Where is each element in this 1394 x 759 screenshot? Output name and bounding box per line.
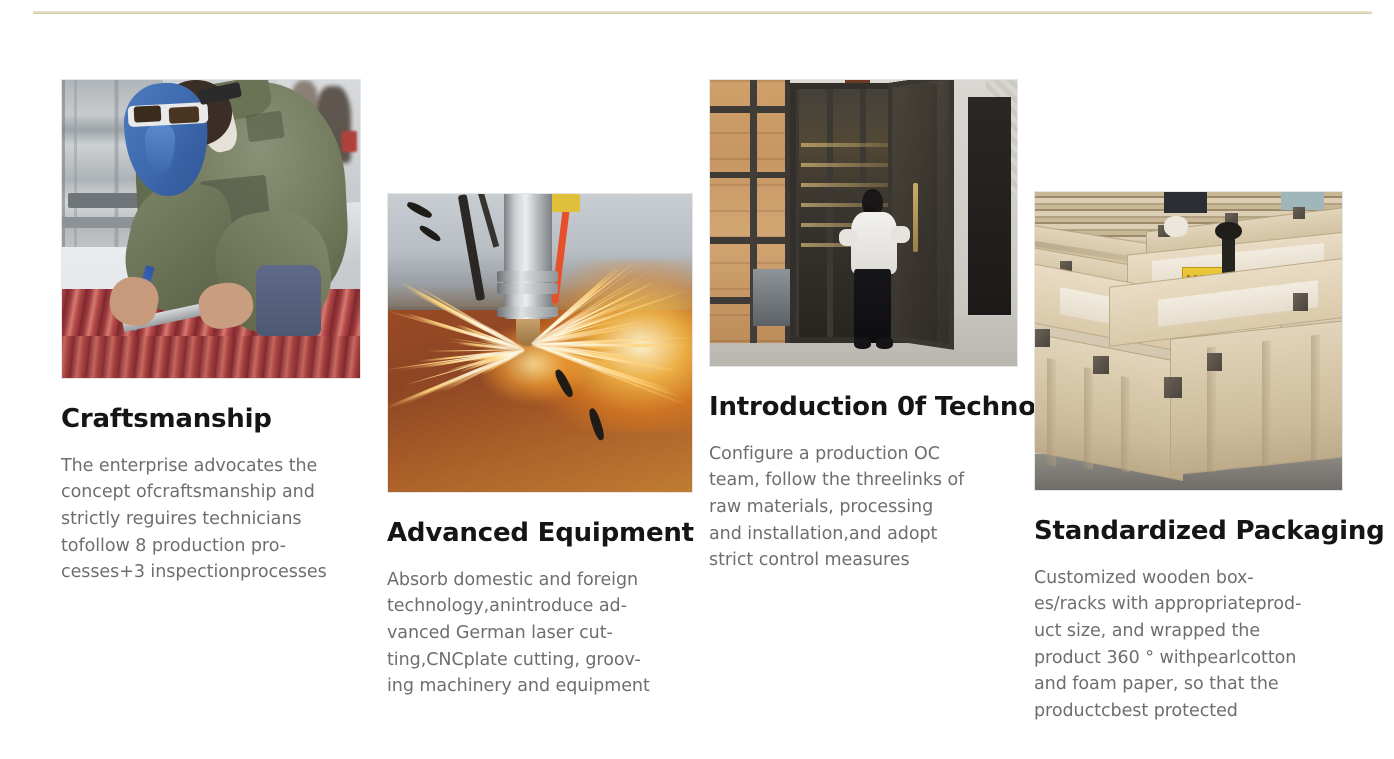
right-dark-door-panel [968,97,1011,314]
goggles-right-lens [169,107,200,125]
feature-card-craftsmanship: Craftsmanship The enterprise advocates t… [61,79,361,586]
card-title-craftsmanship: Craftsmanship [61,405,361,435]
card-body-standardized-packaging: Customized wooden box- es/racks with app… [1034,565,1343,725]
floor-storage-box [753,269,790,326]
crate-corner-bracket [1164,377,1182,398]
laser-cutting-head-sparks-photo [387,193,693,493]
body-line: ting,CNCplate cutting, groov- [387,647,693,674]
door-handle [913,183,918,252]
body-line: The enterprise advocates the [61,453,361,480]
background-bar-secondary [62,217,134,227]
body-line: strict control measures [709,547,1021,574]
person-right-shoe [876,337,893,348]
worker-welding-mask-marking-metal-photo [61,79,361,379]
body-line: productcbest protected [1034,698,1343,725]
person-left-shoe [854,337,871,348]
body-line: uct size, and wrapped the [1034,618,1343,645]
display-shelf [801,163,893,167]
background-dark-gap [1164,192,1207,213]
crate-slat [1084,367,1093,470]
card-body-introduction-of-technology: Configure a production OC team, follow t… [709,441,1021,574]
door-glass-panel [796,89,830,337]
body-line: cesses+3 inspectionprocesses [61,559,361,586]
person-right-arm [891,226,909,243]
body-line: es/racks with appropriateprod- [1034,591,1343,618]
body-line: and foam paper, so that the [1034,671,1343,698]
card-title-advanced-equipment: Advanced Equipment [387,519,693,549]
crate-slat [1121,376,1130,473]
body-line: Absorb domestic and foreign [387,567,693,594]
body-line: team, follow the threelinks of [709,467,1021,494]
crate-slat [1047,358,1056,467]
crate-corner-bracket [1293,293,1308,311]
person-black-trousers [854,269,891,343]
card-title-introduction-of-technology: Introduction 0f Technology [709,393,1021,423]
display-shelf [801,143,893,147]
body-line: ing machinery and equipment [387,673,693,700]
body-line: raw materials, processing [709,494,1021,521]
card-body-advanced-equipment: Absorb domestic and foreign technology,a… [387,567,693,700]
feature-card-advanced-equipment: Advanced Equipment Absorb domestic and f… [387,193,693,700]
white-bag [1164,216,1189,237]
person-white-shirt [851,212,897,275]
opened-glass-door [888,79,953,350]
feature-card-introduction-of-technology: Introduction 0f Technology Configure a p… [709,79,1021,574]
card-body-craftsmanship: The enterprise advocates the concept ofc… [61,453,361,586]
crate-corner-bracket [1035,329,1050,347]
red-corrugated-sheets-foreground [62,336,360,378]
showroom-glass-doors-person-photo [709,79,1018,367]
card-title-standardized-packaging: Standardized Packaging [1034,517,1343,547]
body-line: tofollow 8 production pro- [61,533,361,560]
body-line: and installation,and adopt [709,521,1021,548]
person-left-arm [839,229,857,246]
feature-cards-grid: Craftsmanship The enterprise advocates t… [0,0,1394,759]
worker-trousers [256,265,322,337]
crate-slat [1311,335,1320,461]
crate-corner-bracket [1093,356,1108,374]
background-red-object [342,131,357,152]
body-line: strictly reguires technicians [61,506,361,533]
display-shelf [801,183,893,187]
body-line: Configure a production OC [709,441,1021,468]
jacket-shoulder-pocket [245,110,284,142]
body-line: Customized wooden box- [1034,565,1343,592]
body-line: concept ofcraftsmanship and [61,479,361,506]
body-line: technology,anintroduce ad- [387,593,693,620]
wooden-crates-warehouse-photo [1034,191,1343,491]
body-line: product 360 ° withpearlcotton [1034,645,1343,672]
feature-card-standardized-packaging: Standardized Packaging Customized wooden… [1034,191,1343,724]
goggles-left-lens [133,105,161,122]
body-line: vanced German laser cut- [387,620,693,647]
crate-corner-bracket [1207,353,1222,371]
crate-corner-bracket [1293,207,1305,219]
crate-slat [1262,341,1271,467]
